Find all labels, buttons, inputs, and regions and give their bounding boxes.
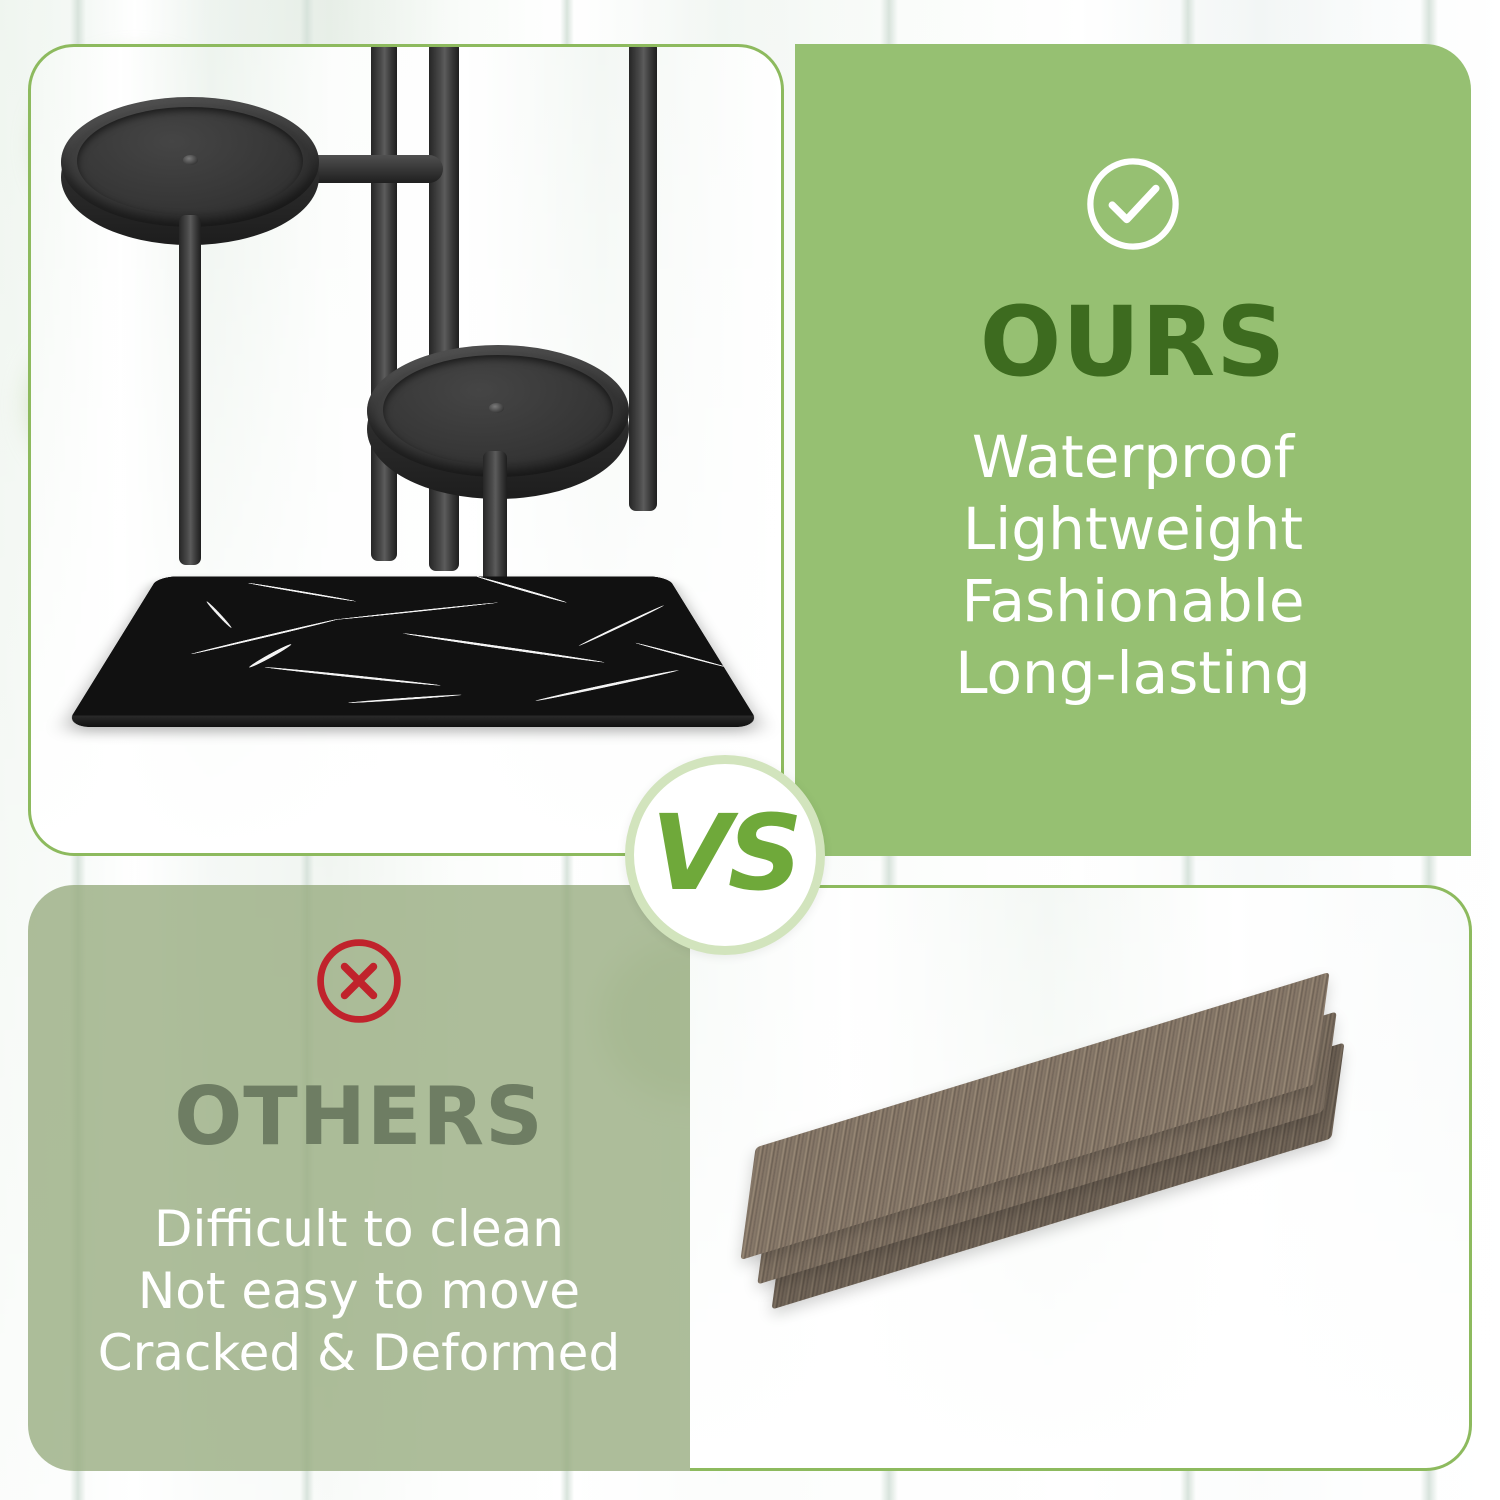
plant-stand-illustration	[31, 47, 781, 853]
others-drawback-list: Difficult to clean Not easy to move Crac…	[98, 1199, 620, 1383]
vs-label: VS	[651, 801, 798, 905]
ours-feature-item: Waterproof	[972, 424, 1294, 490]
check-circle-icon	[1081, 152, 1185, 256]
marble-base-surface	[65, 576, 761, 727]
others-drawback-item: Cracked & Deformed	[98, 1323, 620, 1383]
ours-feature-item: Lightweight	[963, 496, 1303, 562]
wood-planks-illustration	[708, 980, 1408, 1400]
ours-feature-list: Waterproof Lightweight Fashionable Long-…	[955, 424, 1311, 706]
comparison-infographic: OURS Waterproof Lightweight Fashionable …	[0, 0, 1500, 1500]
ours-feature-item: Fashionable	[961, 568, 1304, 634]
ours-panel: OURS Waterproof Lightweight Fashionable …	[795, 44, 1471, 856]
marble-base	[65, 576, 761, 727]
upper-tray-screw	[183, 155, 198, 165]
stand-rear-post-right	[629, 44, 657, 511]
competitor-photo-panel	[690, 885, 1472, 1471]
upper-tray-leg	[179, 215, 201, 565]
others-drawback-item: Not easy to move	[138, 1261, 580, 1321]
marble-base-edge	[65, 716, 761, 727]
stand-rear-post-left	[371, 44, 397, 561]
lower-tray-screw	[489, 403, 504, 413]
others-drawback-item: Difficult to clean	[154, 1199, 564, 1259]
vs-badge: VS	[625, 755, 825, 955]
others-title: OTHERS	[174, 1077, 543, 1157]
ours-title: OURS	[980, 294, 1287, 390]
x-circle-icon	[311, 933, 407, 1029]
product-photo-panel	[28, 44, 784, 856]
others-panel: OTHERS Difficult to clean Not easy to mo…	[28, 885, 690, 1471]
ours-feature-item: Long-lasting	[955, 640, 1311, 706]
